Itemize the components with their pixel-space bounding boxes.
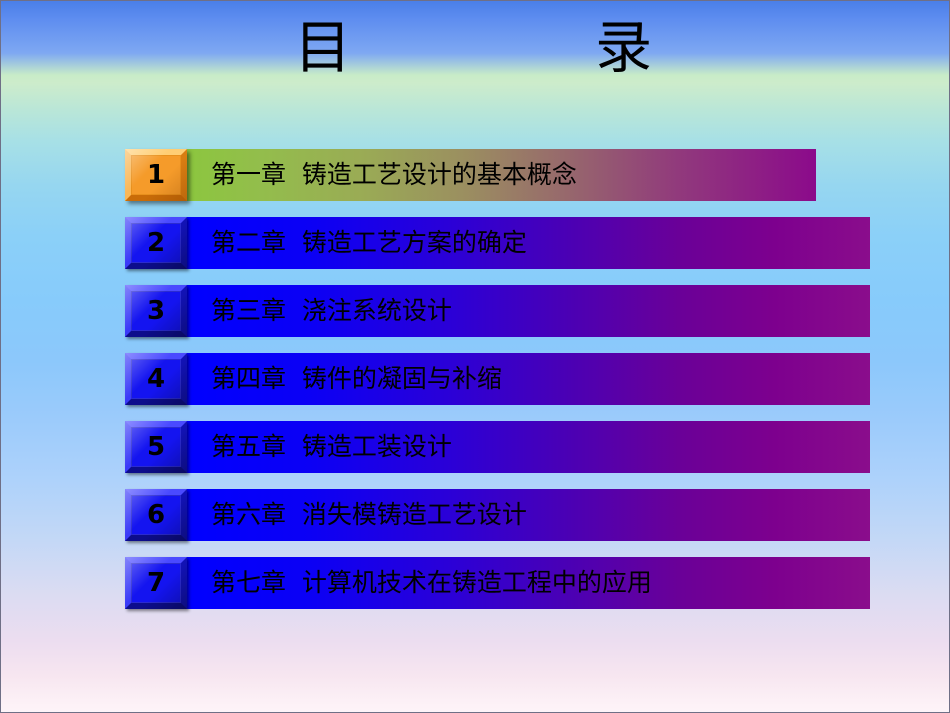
toc-number-chip-4[interactable]: 4 (125, 353, 187, 405)
toc-label-6: 第六章 消失模铸造工艺设计 (187, 489, 527, 541)
toc-number-chip-5[interactable]: 5 (125, 421, 187, 473)
toc-number-1: 1 (147, 160, 165, 190)
toc-row-2[interactable]: 第二章 铸造工艺方案的确定 2 (125, 217, 885, 269)
toc-row-7[interactable]: 第七章 计算机技术在铸造工程中的应用 7 (125, 557, 885, 609)
toc-number-chip-2[interactable]: 2 (125, 217, 187, 269)
slide-canvas: 目 录 第一章 铸造工艺设计的基本概念 1 第二章 铸造工艺方案的确定 2 第 (0, 0, 950, 713)
toc-bar-2[interactable]: 第二章 铸造工艺方案的确定 (187, 217, 870, 269)
toc-bar-3[interactable]: 第三章 浇注系统设计 (187, 285, 870, 337)
toc-number-chip-7[interactable]: 7 (125, 557, 187, 609)
table-of-contents-list: 第一章 铸造工艺设计的基本概念 1 第二章 铸造工艺方案的确定 2 第三章 浇注… (125, 149, 885, 625)
toc-bar-4[interactable]: 第四章 铸件的凝固与补缩 (187, 353, 870, 405)
toc-bar-7[interactable]: 第七章 计算机技术在铸造工程中的应用 (187, 557, 870, 609)
toc-number-3: 3 (147, 296, 165, 326)
page-title: 目 录 (1, 13, 950, 83)
toc-row-3[interactable]: 第三章 浇注系统设计 3 (125, 285, 885, 337)
toc-number-7: 7 (147, 568, 165, 598)
toc-row-6[interactable]: 第六章 消失模铸造工艺设计 6 (125, 489, 885, 541)
toc-number-4: 4 (147, 364, 165, 394)
toc-number-2: 2 (147, 228, 165, 258)
toc-label-5: 第五章 铸造工装设计 (187, 421, 452, 473)
toc-row-5[interactable]: 第五章 铸造工装设计 5 (125, 421, 885, 473)
toc-label-1: 第一章 铸造工艺设计的基本概念 (187, 149, 577, 201)
toc-bar-6[interactable]: 第六章 消失模铸造工艺设计 (187, 489, 870, 541)
toc-label-2: 第二章 铸造工艺方案的确定 (187, 217, 527, 269)
toc-number-chip-6[interactable]: 6 (125, 489, 187, 541)
toc-row-4[interactable]: 第四章 铸件的凝固与补缩 4 (125, 353, 885, 405)
toc-number-5: 5 (147, 432, 165, 462)
toc-number-chip-1[interactable]: 1 (125, 149, 187, 201)
toc-label-3: 第三章 浇注系统设计 (187, 285, 452, 337)
toc-bar-5[interactable]: 第五章 铸造工装设计 (187, 421, 870, 473)
toc-label-7: 第七章 计算机技术在铸造工程中的应用 (187, 557, 652, 609)
toc-number-6: 6 (147, 500, 165, 530)
toc-label-4: 第四章 铸件的凝固与补缩 (187, 353, 502, 405)
toc-row-1[interactable]: 第一章 铸造工艺设计的基本概念 1 (125, 149, 885, 201)
toc-number-chip-3[interactable]: 3 (125, 285, 187, 337)
toc-bar-1[interactable]: 第一章 铸造工艺设计的基本概念 (187, 149, 816, 201)
